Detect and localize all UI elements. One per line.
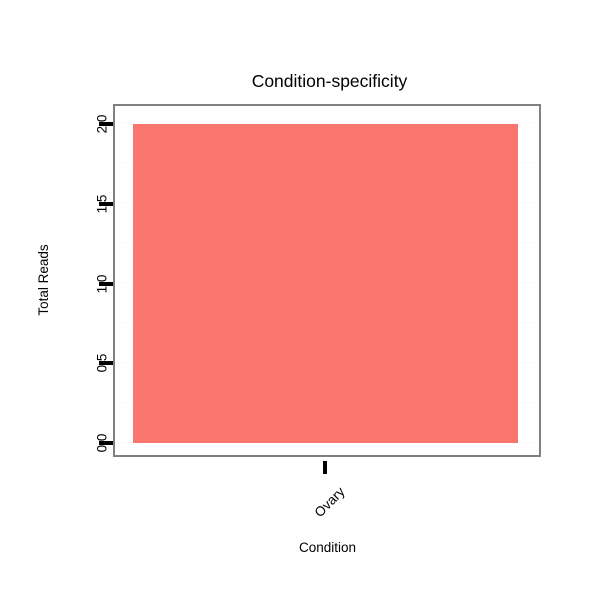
y-tick-label-2: 1.0 bbox=[95, 284, 110, 318]
plot-panel-inner bbox=[115, 106, 539, 455]
y-axis-tick-2 bbox=[99, 282, 113, 286]
x-tick-label-0: Ovary bbox=[288, 484, 348, 544]
y-axis-tick-1 bbox=[99, 361, 113, 365]
y-axis-tick-3 bbox=[99, 202, 113, 206]
plot-panel bbox=[113, 104, 541, 457]
chart-canvas: Condition-specificity Total Reads 0.0 0.… bbox=[0, 0, 600, 600]
bar-ovary bbox=[133, 124, 518, 443]
y-tick-label-0: 0.0 bbox=[95, 443, 110, 477]
x-axis-tick-0 bbox=[323, 461, 327, 474]
y-tick-label-4: 2.0 bbox=[95, 124, 110, 158]
y-axis-tick-0 bbox=[99, 441, 113, 445]
y-tick-label-3: 1.5 bbox=[95, 204, 110, 238]
y-axis-title: Total Reads bbox=[36, 244, 51, 315]
chart-title: Condition-specificity bbox=[0, 71, 600, 92]
y-axis-tick-4 bbox=[99, 122, 113, 126]
y-tick-label-1: 0.5 bbox=[95, 363, 110, 397]
x-axis-title: Condition bbox=[0, 540, 600, 555]
